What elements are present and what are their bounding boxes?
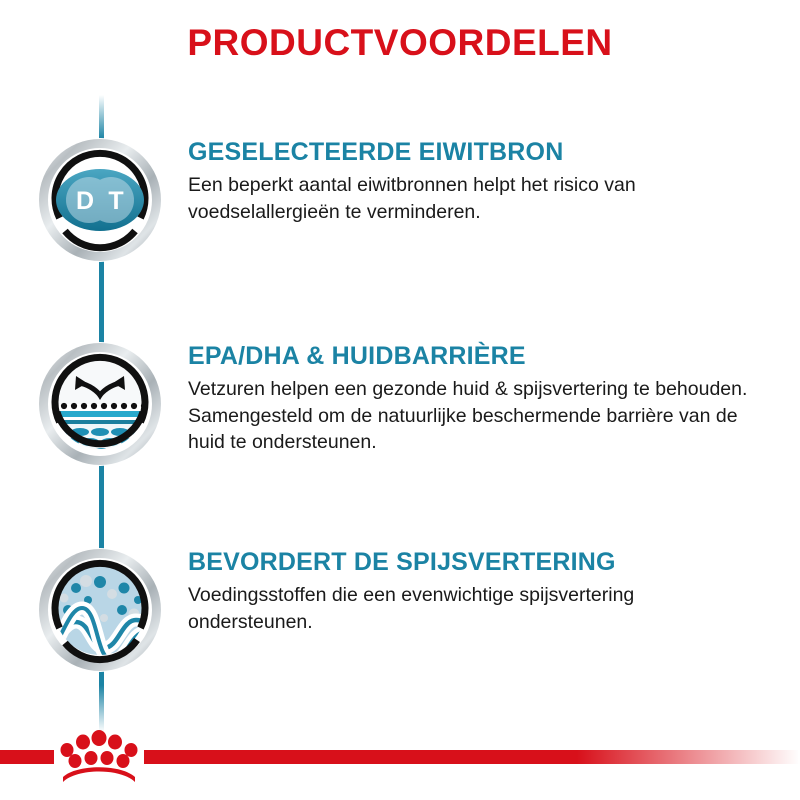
benefit-text-cell-2: EPA/DHA & HUIDBARRIÈRE Vetzuren helpen e… [188, 342, 800, 456]
footer-rule-left [0, 750, 54, 764]
benefit-heading-1: GESELECTEERDE EIWITBRON [188, 138, 752, 166]
benefit-body-1: Een beperkt aantal eiwitbronnen helpt he… [188, 172, 752, 225]
footer [0, 724, 800, 800]
benefit-heading-3: BEVORDERT DE SPIJSVERTERING [188, 548, 752, 576]
page-title: PRODUCTVOORDELEN [0, 22, 800, 64]
digestive-support-icon [38, 548, 162, 672]
svg-text:D: D [76, 187, 94, 215]
benefit-icon-cell-3 [0, 548, 188, 672]
benefit-icon-cell-1: D T [0, 138, 188, 262]
product-benefits-page: PRODUCTVOORDELEN [0, 0, 800, 800]
benefit-row-skin-barrier: EPA/DHA & HUIDBARRIÈRE Vetzuren helpen e… [0, 342, 800, 466]
benefit-icon-cell-2 [0, 342, 188, 466]
benefit-body-3: Voedingsstoffen die een evenwichtige spi… [188, 582, 752, 635]
royal-canin-crown-logo [53, 730, 145, 786]
benefit-body-2: Vetzuren helpen een gezonde huid & spijs… [188, 376, 752, 456]
benefit-row-protein: D T GESELECTEERDE EIWITBRON Een beperkt … [0, 138, 800, 262]
benefit-text-cell-3: BEVORDERT DE SPIJSVERTERING Voedingsstof… [188, 548, 800, 635]
svg-text:T: T [108, 187, 123, 215]
benefit-heading-2: EPA/DHA & HUIDBARRIÈRE [188, 342, 752, 370]
selected-protein-dt-icon: D T [38, 138, 162, 262]
benefit-text-cell-1: GESELECTEERDE EIWITBRON Een beperkt aant… [188, 138, 800, 225]
footer-rule-right [144, 750, 800, 764]
skin-barrier-icon [38, 342, 162, 466]
benefit-row-digestion: BEVORDERT DE SPIJSVERTERING Voedingsstof… [0, 548, 800, 672]
